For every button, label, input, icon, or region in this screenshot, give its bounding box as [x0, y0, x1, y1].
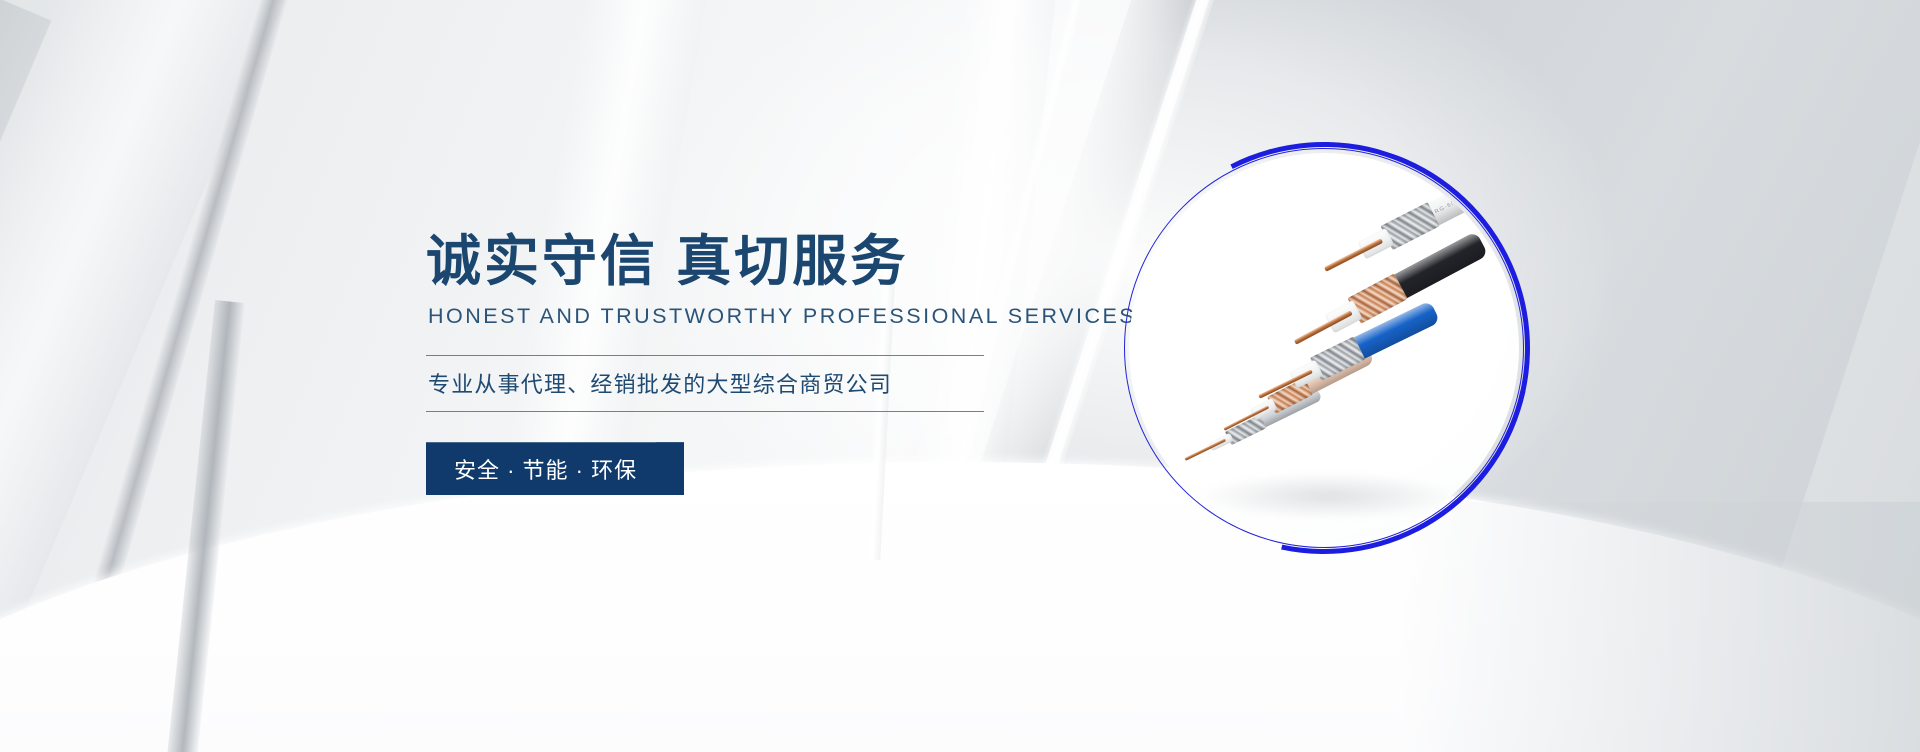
- feature-ribbon: 安全 · 节能 · 环保: [426, 442, 684, 495]
- divider-bottom: [426, 411, 984, 412]
- hero-text-block: 诚实守信 真切服务 HONEST AND TRUSTWORTHY PROFESS…: [426, 232, 996, 495]
- subtitle-english: HONEST AND TRUSTWORTHY PROFESSIONAL SERV…: [428, 304, 996, 329]
- medallion-ring-accent-arc-lower: [1039, 63, 1609, 633]
- subtitle-chinese: 专业从事代理、经销批发的大型综合商贸公司: [426, 356, 996, 411]
- hero-banner: 诚实守信 真切服务 HONEST AND TRUSTWORTHY PROFESS…: [0, 0, 1920, 752]
- divider-top: [426, 355, 984, 356]
- ribbon-label: 安全 · 节能 · 环保: [454, 442, 637, 495]
- page-title: 诚实守信 真切服务: [426, 232, 996, 290]
- product-medallion: RG-6/U 75Ω COAXIAL: [1124, 148, 1524, 548]
